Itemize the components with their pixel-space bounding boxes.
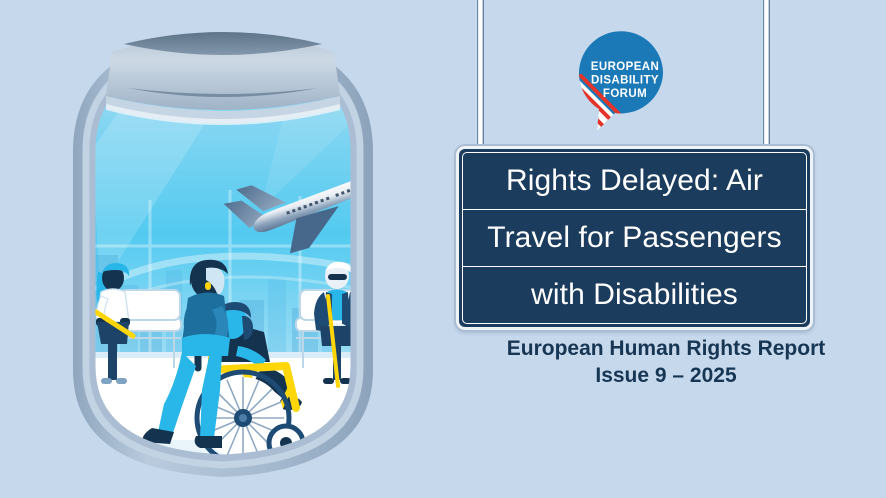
sign-title-line-3: with Disabilities [463, 266, 806, 323]
logo-line-2: DISABILITY [591, 75, 659, 87]
subtitle-line-1: European Human Rights Report [446, 336, 886, 363]
european-disability-forum-logo: EUROPEAN DISABILITY FORUM [575, 28, 667, 134]
window-shade [106, 32, 340, 125]
logo-line-3: FORUM [603, 88, 647, 100]
report-subtitle: European Human Rights Report Issue 9 – 2… [446, 336, 886, 390]
airplane-window-illustration [0, 0, 446, 498]
sign-hanger-rod-right [763, 0, 770, 152]
sign-title-line-2: Travel for Passengers [463, 209, 806, 266]
report-cover: EUROPEAN DISABILITY FORUM Rights Delayed… [0, 0, 886, 498]
airport-sign-inner: Rights Delayed: Air Travel for Passenger… [462, 152, 807, 324]
airport-sign: Rights Delayed: Air Travel for Passenger… [456, 146, 813, 330]
logo-line-1: EUROPEAN [591, 61, 659, 73]
sign-title-line-1: Rights Delayed: Air [463, 153, 806, 209]
cover-title-panel: EUROPEAN DISABILITY FORUM Rights Delayed… [446, 0, 886, 498]
subtitle-line-2: Issue 9 – 2025 [446, 363, 886, 390]
sign-hanger-rod-left [477, 0, 484, 152]
